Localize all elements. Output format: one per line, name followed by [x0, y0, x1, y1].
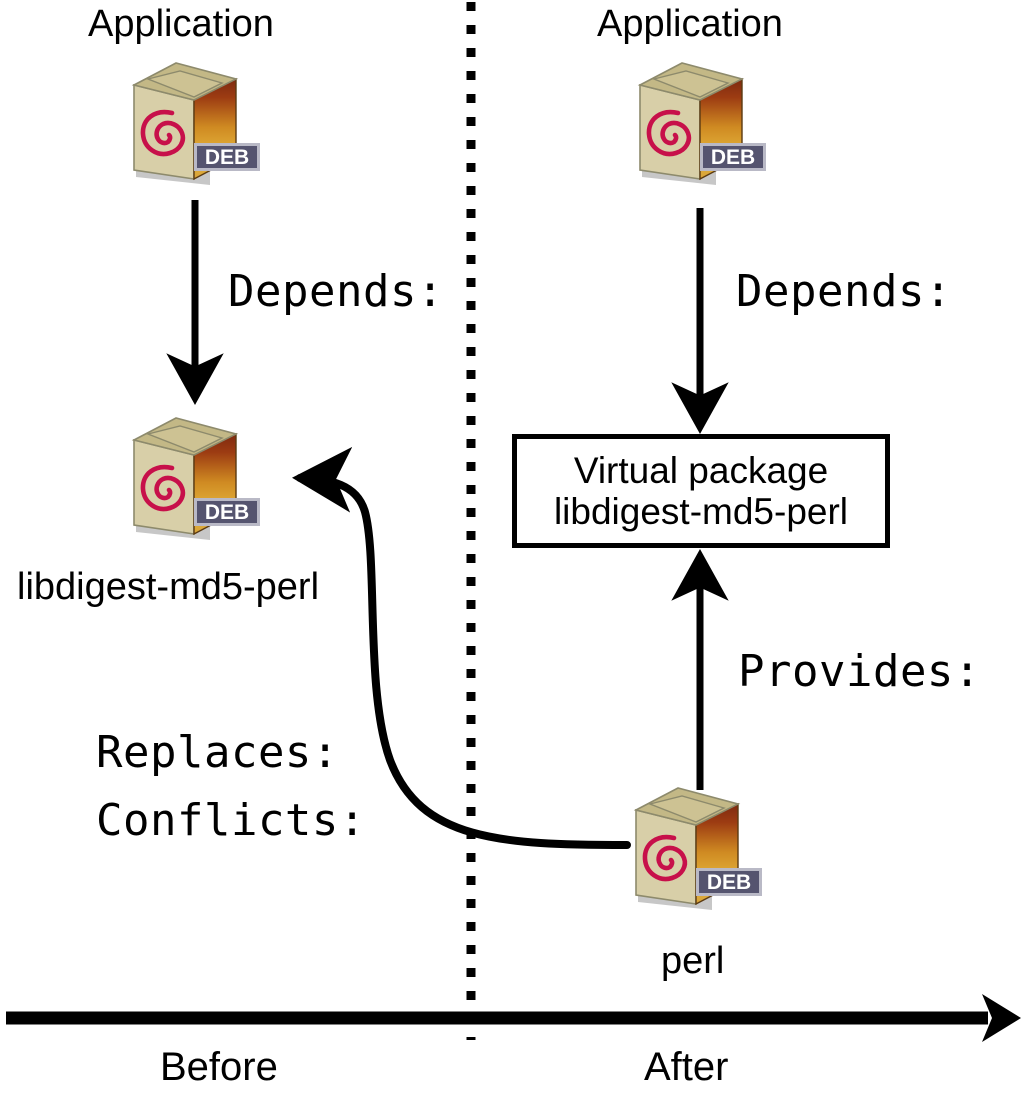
deb-badge: DEB	[700, 143, 766, 171]
relation-depends-after: Depends:	[736, 270, 952, 314]
relation-depends-before: Depends:	[228, 270, 444, 314]
svg-text:DEB: DEB	[707, 871, 751, 894]
deb-badge-label: DEB	[205, 146, 249, 169]
deb-package-icon-libdigest-md5-perl: DEB	[118, 412, 268, 547]
relation-conflicts: Conflicts:	[96, 799, 366, 843]
virtual-package-line2: libdigest-md5-perl	[554, 491, 848, 532]
diagram-canvas: DEB DEB	[0, 0, 1024, 1094]
svg-text:DEB: DEB	[205, 501, 249, 524]
deb-package-icon-perl: DEB	[620, 782, 770, 917]
timeline-label-after: After	[644, 1047, 728, 1087]
deb-badge: DEB	[696, 868, 762, 896]
deb-package-icon-application-before: DEB	[118, 57, 268, 192]
relation-provides: Provides:	[738, 650, 981, 694]
deb-package-icon-graphic: DEB	[118, 57, 268, 192]
virtual-package-line1: Virtual package	[574, 450, 828, 491]
heading-application-before: Application	[88, 5, 274, 43]
deb-package-icon-application-after: DEB	[624, 57, 774, 192]
timeline-label-before: Before	[160, 1047, 278, 1087]
virtual-package-box: Virtual package libdigest-md5-perl	[512, 434, 890, 548]
heading-application-after: Application	[597, 5, 783, 43]
deb-badge: DEB	[194, 498, 260, 526]
package-label-perl: perl	[661, 942, 724, 980]
package-label-libdigest-md5-perl: libdigest-md5-perl	[17, 568, 319, 606]
relation-replaces: Replaces:	[96, 731, 339, 775]
timeline-arrowhead	[982, 994, 1021, 1042]
deb-badge: DEB	[194, 143, 260, 171]
svg-text:DEB: DEB	[711, 146, 755, 169]
